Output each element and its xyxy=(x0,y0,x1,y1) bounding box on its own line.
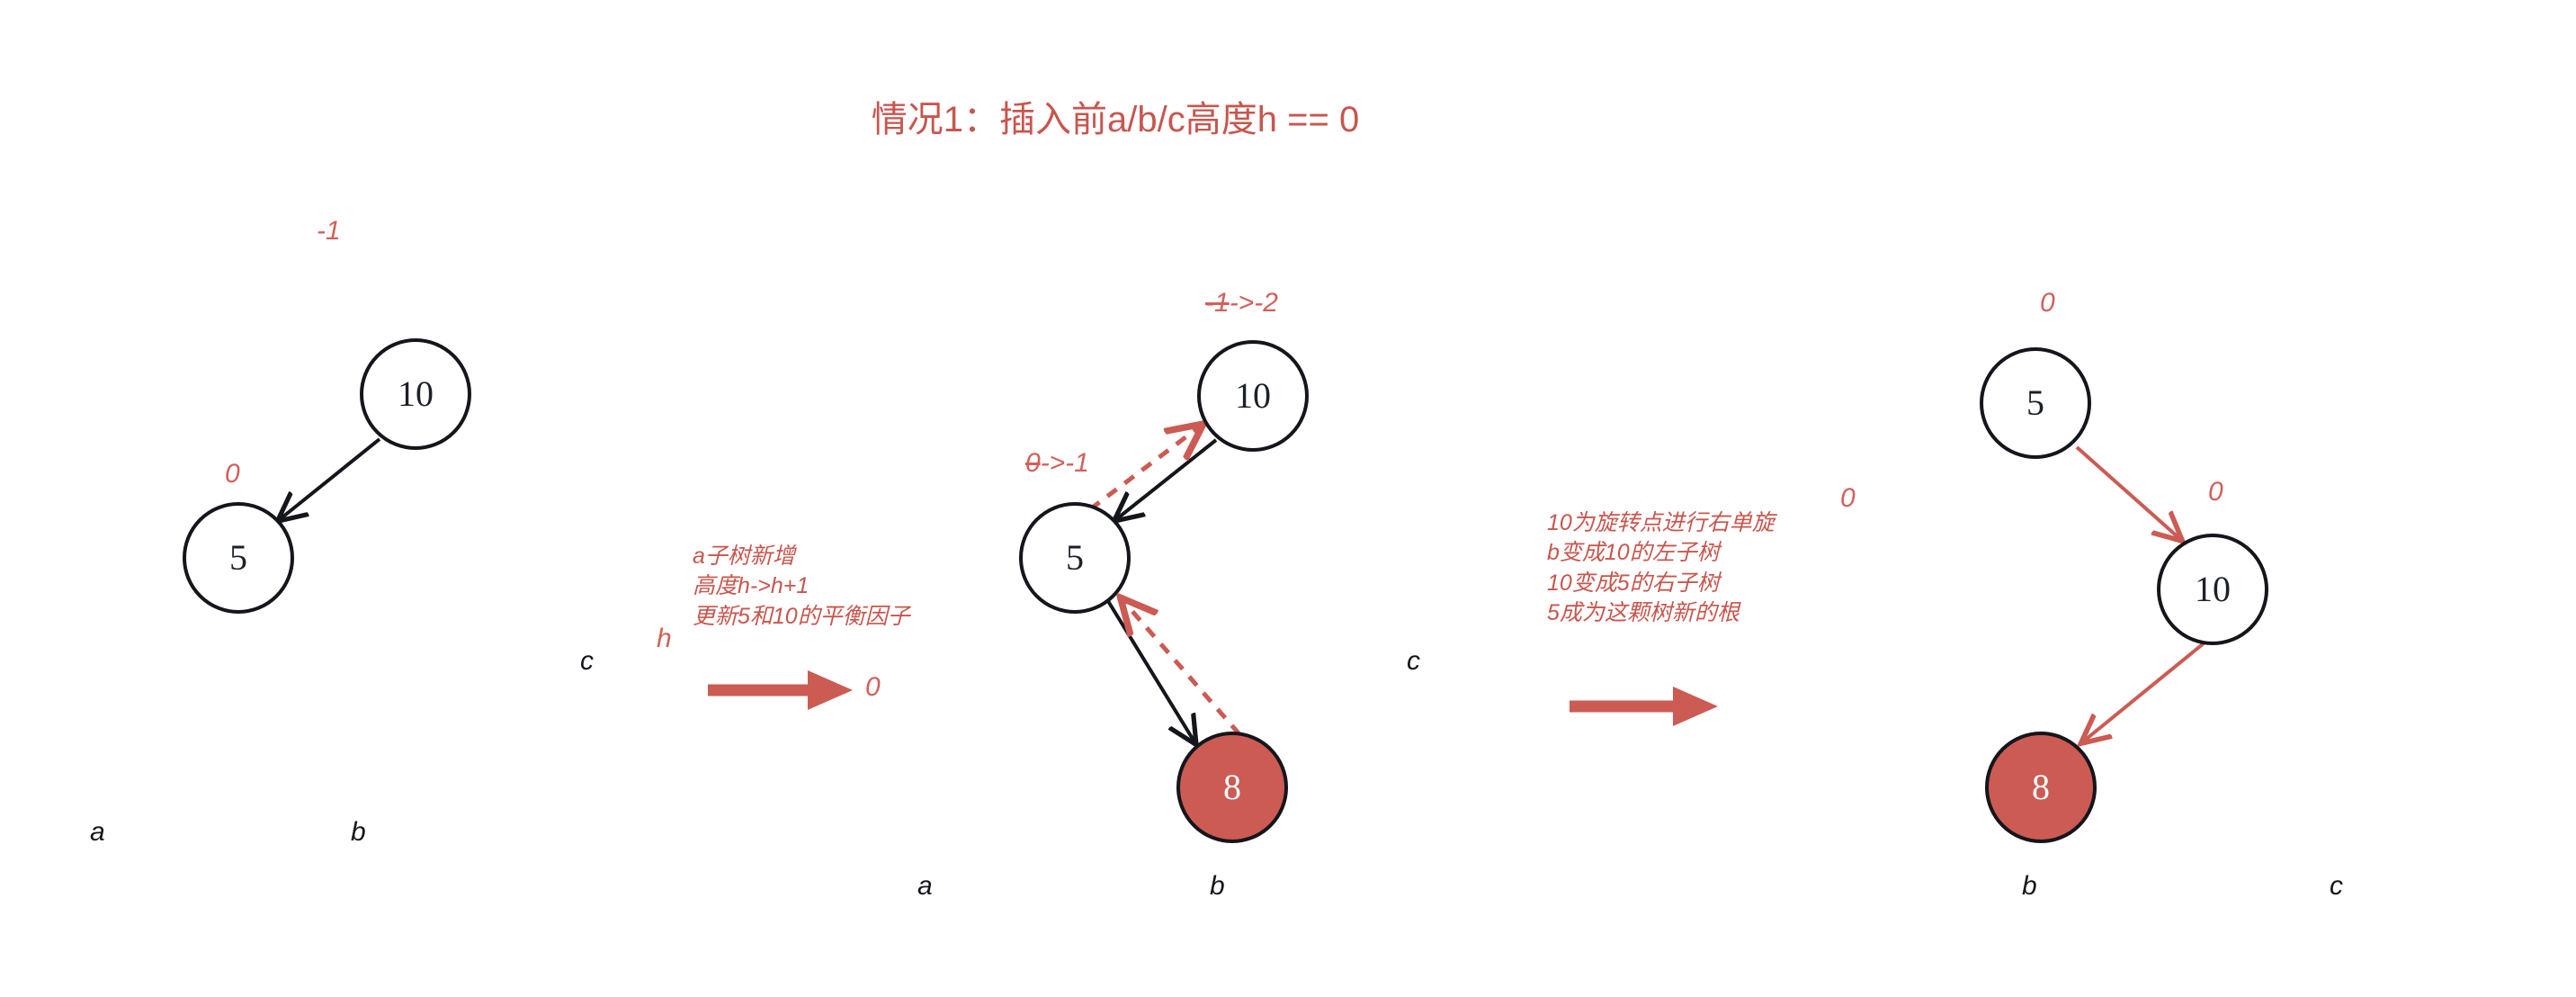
step1-transition-arrow xyxy=(708,670,853,710)
edge-t2-dashed-8-to-5 xyxy=(1123,601,1239,734)
tree2-subtree-label-c: c xyxy=(1407,646,1420,677)
tree3-node-10-balance: 0 xyxy=(2208,477,2223,507)
tree2-node-5-balance-old: 0 xyxy=(1025,448,1041,478)
node-value: 10 xyxy=(398,376,434,412)
step2-transition-arrow xyxy=(1570,687,1718,726)
step2-note-line-4: 5成为这颗树新的根 xyxy=(1547,598,1775,628)
tree2-node-5-balance: 0->-1 xyxy=(1025,448,1089,479)
tree2-node-8[interactable]: 8 xyxy=(1176,732,1288,843)
edge-t1-10-to-5 xyxy=(279,439,380,520)
node-value: 10 xyxy=(1235,378,1271,414)
step1-note: a子树新增 高度h->h+1 更新5和10的平衡因子 xyxy=(693,542,910,632)
tree1-subtree-label-a: a xyxy=(90,817,105,848)
tree1-node-5-balance: 0 xyxy=(225,459,240,490)
step2-note-line-3: 10变成5的右子树 xyxy=(1547,569,1775,598)
tree1-node-10[interactable]: 10 xyxy=(360,338,471,450)
node-value: 5 xyxy=(229,540,247,576)
tree2-node-10-balance-old: -1 xyxy=(1205,288,1230,318)
step2-note: 10为旋转点进行右单旋 b变成10的左子树 10变成5的右子树 5成为这颗树新的… xyxy=(1547,508,1775,628)
step1-note-line-1: a子树新增 xyxy=(693,542,910,571)
tree1-node-5[interactable]: 5 xyxy=(183,502,294,614)
tree3-node-8[interactable]: 8 xyxy=(1985,732,2097,843)
step2-note-line-1: 10为旋转点进行右单旋 xyxy=(1547,508,1775,538)
node-value: 5 xyxy=(1066,540,1084,576)
step1-note-line-2: 高度h->h+1 xyxy=(693,571,910,601)
edge-t2-5-to-8 xyxy=(1108,601,1195,743)
step1-zero-label: 0 xyxy=(865,672,881,703)
node-value: 8 xyxy=(1223,769,1241,805)
node-value: 10 xyxy=(2195,571,2231,607)
tree2-node-5[interactable]: 5 xyxy=(1019,502,1131,614)
tree3-node-5-balance: 0 xyxy=(2040,288,2055,319)
diagram-canvas xyxy=(0,0,2576,997)
tree2-node-10-balance-new: -2 xyxy=(1254,288,1278,318)
tree1-node-10-balance: -1 xyxy=(317,216,341,247)
node-value: 8 xyxy=(2032,769,2050,805)
tree3-subtree-label-c: c xyxy=(2330,871,2343,902)
step2-zero-label: 0 xyxy=(1840,483,1856,514)
tree2-subtree-label-a: a xyxy=(917,871,933,902)
page-title: 情况1：插入前a/b/c高度h == 0 xyxy=(0,90,2231,142)
tree2-node-10-balance: -1->-2 xyxy=(1205,288,1278,319)
tree1-subtree-label-c: c xyxy=(580,646,594,677)
tree2-node-5-balance-new: -1 xyxy=(1065,448,1089,478)
tree1-subtree-label-b: b xyxy=(351,817,366,848)
tree2-balance-arrow-5: -> xyxy=(1041,448,1066,478)
tree3-node-10[interactable]: 10 xyxy=(2157,534,2268,645)
tree2-balance-arrow-10: -> xyxy=(1230,288,1255,318)
node-value: 5 xyxy=(2026,385,2044,421)
step1-note-line-3: 更新5和10的平衡因子 xyxy=(693,602,910,632)
step2-note-line-2: b变成10的左子树 xyxy=(1547,538,1775,568)
tree3-node-5[interactable]: 5 xyxy=(1980,347,2091,459)
step1-height-label: h xyxy=(657,624,672,654)
tree2-node-10[interactable]: 10 xyxy=(1197,340,1309,452)
tree3-subtree-label-b: b xyxy=(2022,871,2037,902)
tree2-subtree-label-b: b xyxy=(1210,871,1225,902)
edge-t3-5-to-10 xyxy=(2077,447,2181,540)
edge-t3-10-to-8 xyxy=(2082,643,2204,742)
